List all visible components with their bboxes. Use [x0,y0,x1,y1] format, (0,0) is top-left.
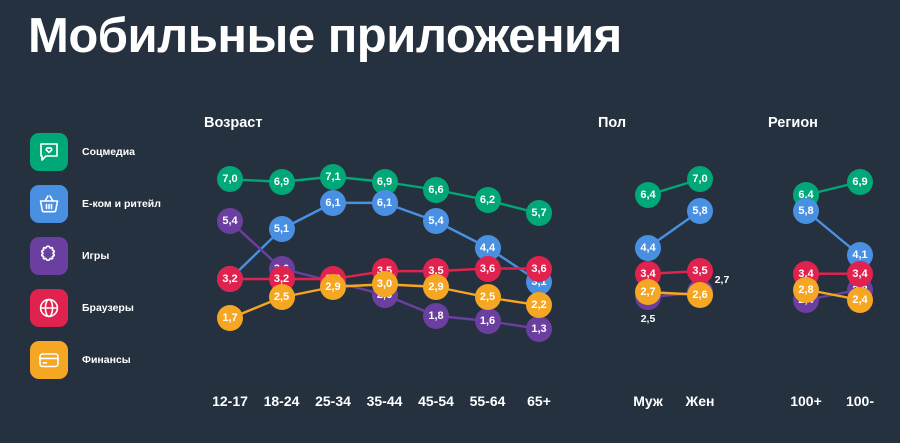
data-point[interactable]: 7,0 [217,166,243,192]
chat-heart-icon [30,133,68,171]
data-point[interactable]: 3,5 [687,258,713,284]
infographic-page: Мобильные приложения СоцмедиаЕ-ком и рит… [0,0,900,443]
x-axis-tick: 18-24 [264,393,300,409]
legend-item-label: Е-ком и ритейл [82,198,161,210]
data-point[interactable]: 5,1 [269,216,295,242]
data-point[interactable]: 3,6 [526,256,552,282]
globe-icon [30,289,68,327]
legend: СоцмедиаЕ-ком и ритейлИгрыБраузерыФинанс… [30,133,195,393]
legend-item-4[interactable]: Браузеры [30,289,195,327]
legend-item-2[interactable]: Е-ком и ритейл [30,185,195,223]
legend-item-label: Соцмедиа [82,146,135,158]
data-point[interactable]: 5,4 [217,208,243,234]
data-point[interactable]: 3,6 [475,256,501,282]
basket-icon [30,185,68,223]
data-point-label: 2,7 [715,274,730,286]
data-point[interactable]: 1,8 [423,303,449,329]
chart-title: Регион [768,115,818,131]
x-axis-tick: Муж [633,393,663,409]
plot-area: 5,43,62,61,81,61,37,06,97,16,96,66,25,73… [220,153,540,363]
data-point[interactable]: 5,7 [526,200,552,226]
legend-item-1[interactable]: Соцмедиа [30,133,195,171]
data-point[interactable]: 1,7 [217,305,243,331]
data-point[interactable]: 6,1 [320,190,346,216]
x-axis-tick: 55-64 [470,393,506,409]
data-point[interactable]: 7,0 [687,166,713,192]
x-axis-tick: 25-34 [315,393,351,409]
data-point[interactable]: 2,2 [526,292,552,318]
chart-title: Возраст [204,115,262,131]
legend-item-label: Финансы [82,354,131,366]
x-axis-tick: 65+ [527,393,551,409]
data-point[interactable]: 6,1 [372,190,398,216]
data-point[interactable]: 2,9 [320,274,346,300]
credit-card-icon [30,341,68,379]
chart-title: Пол [598,115,626,131]
data-point[interactable]: 3,4 [847,261,873,287]
data-point[interactable]: 2,5 [475,284,501,310]
plot-area: 2,52,76,47,04,45,83,43,52,72,6 [638,153,758,363]
x-axis-tick: 35-44 [367,393,403,409]
data-point[interactable]: 1,6 [475,308,501,334]
data-point[interactable]: 7,1 [320,164,346,190]
data-point[interactable]: 2,8 [793,277,819,303]
legend-item-label: Браузеры [82,302,134,314]
data-point[interactable]: 6,4 [635,182,661,208]
data-point[interactable]: 5,4 [423,208,449,234]
data-point[interactable]: 2,4 [847,287,873,313]
data-point[interactable]: 5,8 [687,198,713,224]
x-axis-tick: 100- [846,393,874,409]
x-axis-tick: 45-54 [418,393,454,409]
x-axis-tick: 100+ [790,393,822,409]
data-point[interactable]: 6,6 [423,177,449,203]
x-axis-tick: 12-17 [212,393,248,409]
legend-item-5[interactable]: Финансы [30,341,195,379]
legend-item-label: Игры [82,250,109,262]
legend-item-3[interactable]: Игры [30,237,195,275]
data-point[interactable]: 3,0 [372,271,398,297]
plot-area: 2,42,86,46,95,84,13,43,42,82,4 [796,153,900,363]
chart-region: Регион2,42,86,46,95,84,13,43,42,82,4100+… [768,115,900,433]
data-point[interactable]: 6,9 [269,169,295,195]
chart-age: Возраст5,43,62,61,81,61,37,06,97,16,96,6… [200,115,580,433]
data-point[interactable]: 6,2 [475,187,501,213]
data-point[interactable]: 1,3 [526,316,552,342]
data-point[interactable]: 4,4 [635,235,661,261]
data-point[interactable]: 2,7 [635,279,661,305]
data-point[interactable]: 2,9 [423,274,449,300]
data-point-label: 2,5 [641,313,656,325]
data-point[interactable]: 5,8 [793,198,819,224]
data-point[interactable]: 2,5 [269,284,295,310]
puzzle-icon [30,237,68,275]
data-point[interactable]: 2,6 [687,282,713,308]
data-point[interactable]: 3,2 [217,266,243,292]
page-title: Мобильные приложения [28,8,622,64]
data-point[interactable]: 6,9 [847,169,873,195]
x-axis-tick: Жен [686,393,715,409]
